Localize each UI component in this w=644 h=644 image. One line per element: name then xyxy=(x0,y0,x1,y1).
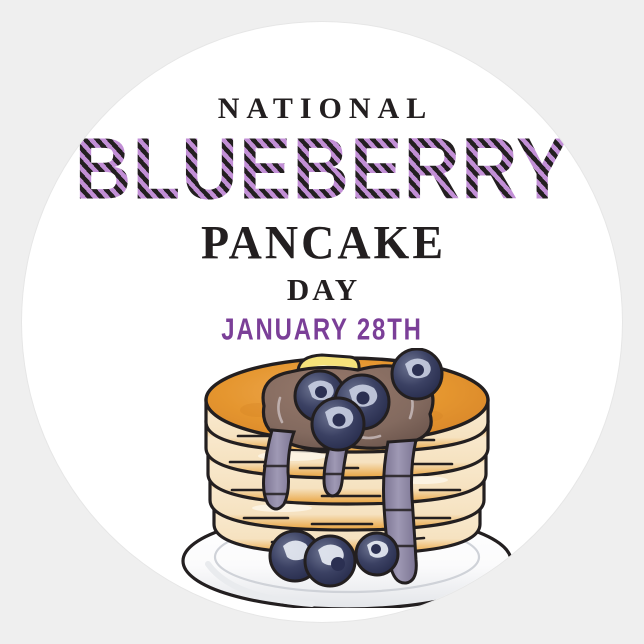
headline-date: JANUARY 28TH xyxy=(46,314,598,345)
headline-blueberry: BLUEBERRY xyxy=(22,125,622,212)
berry-crown xyxy=(331,557,345,571)
sticker-canvas: NATIONAL BLUEBERRY PANCAKE DAY JANUARY 2… xyxy=(0,0,644,644)
berry-crown xyxy=(412,364,424,376)
pancake-illustration xyxy=(172,348,522,608)
blueberry-plate-3 xyxy=(356,533,398,575)
headline-pancake: PANCAKE xyxy=(22,219,622,267)
berry-crown xyxy=(315,386,327,398)
headline-day: DAY xyxy=(22,274,622,305)
blueberry-top-1 xyxy=(392,349,442,399)
sticker-text-block: NATIONAL BLUEBERRY PANCAKE DAY JANUARY 2… xyxy=(22,94,622,342)
round-sticker: NATIONAL BLUEBERRY PANCAKE DAY JANUARY 2… xyxy=(22,22,622,622)
berry-crown xyxy=(357,392,370,405)
berry-crown xyxy=(333,414,346,427)
blueberry-top-4 xyxy=(312,398,364,450)
berry-crown xyxy=(371,544,381,554)
pancake-illustration-svg xyxy=(172,348,522,608)
blueberry-plate-2 xyxy=(305,536,355,586)
